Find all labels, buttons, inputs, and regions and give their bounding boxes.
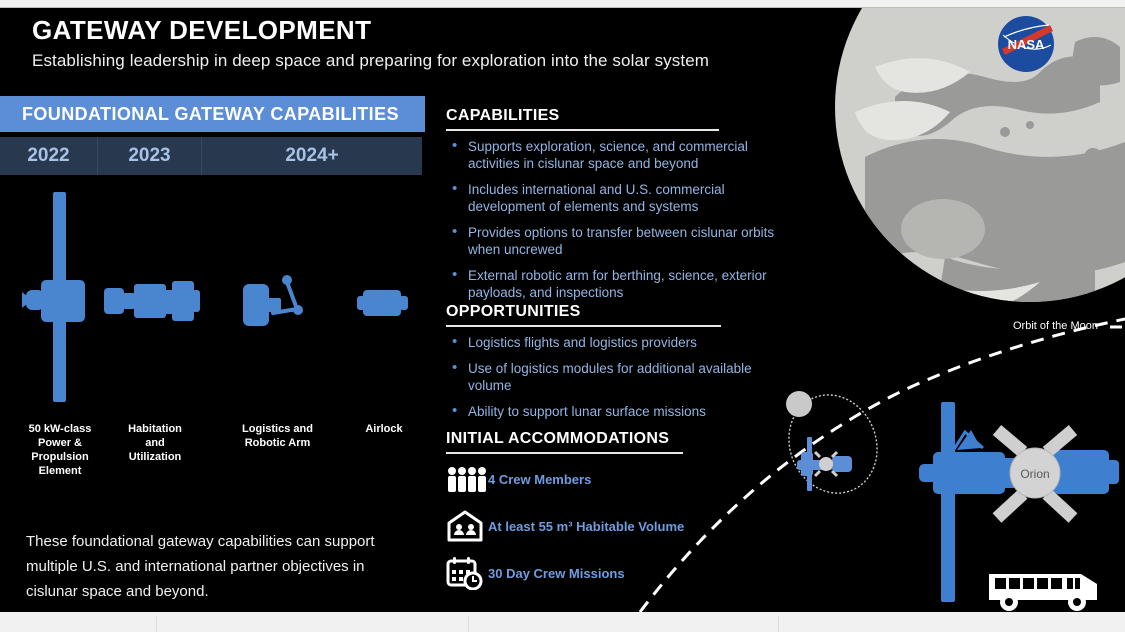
capabilities-section: CAPABILITIES Supports exploration, scien… [446,107,786,310]
habitat-volume-icon [446,508,488,544]
accommodations-divider [446,452,683,454]
timeline-year-2023: 2023 [97,137,202,175]
page-subtitle: Establishing leadership in deep space an… [32,51,709,71]
opportunities-divider [446,325,721,327]
capabilities-list: Supports exploration, science, and comme… [446,138,786,301]
accommodation-label-volume: At least 55 m³ Habitable Volume [488,518,688,535]
slide-body: NASA Orbit of the Moon [0,7,1125,612]
accommodation-row-duration: 30 Day Crew Missions [446,555,786,591]
ppe-module-icon [18,192,108,407]
habitation-module-icon [104,278,202,326]
capabilities-item: Provides options to transfer between cis… [446,224,786,258]
opportunities-item: Ability to support lunar surface mission… [446,403,786,420]
orbit-of-the-moon-label: Orbit of the Moon [1013,320,1098,332]
opportunities-item: Use of logistics modules for additional … [446,360,786,394]
opportunities-heading: OPPORTUNITIES [446,303,786,321]
capabilities-item: Supports exploration, science, and comme… [446,138,786,172]
accommodation-label-crew: 4 Crew Members [488,471,688,488]
logistics-robotic-arm-module-icon [243,272,311,328]
orbit-dash-tail [1110,320,1125,334]
accommodation-label-duration: 30 Day Crew Missions [488,565,688,582]
foundational-capabilities-bar: FOUNDATIONAL GATEWAY CAPABILITIES [0,96,425,132]
foundational-capabilities-label: FOUNDATIONAL GATEWAY CAPABILITIES [22,104,399,125]
airlock-module-label: Airlock [345,422,423,436]
accommodations-heading: INITIAL ACCOMMODATIONS [446,430,786,448]
page-edge-top [0,0,1125,8]
accommodation-row-crew: 4 Crew Members [446,461,786,497]
timeline-year-2024: 2024+ [202,137,422,175]
habitation-module-label: HabitationandUtilization [105,422,205,464]
timeline-year-bar: 2022 2023 2024+ [0,137,422,175]
footnote-text: These foundational gateway capabilities … [26,529,406,604]
ppe-module-label: 50 kW-classPower &PropulsionElement [5,422,115,478]
timeline-year-2022: 2022 [0,137,97,175]
moon-image: NASA [825,7,1125,317]
page-edge-bottom [0,612,1125,632]
nasa-logo-text: NASA [1008,37,1045,52]
opportunities-section: OPPORTUNITIES Logistics flights and logi… [446,303,786,429]
orion-gateway-diagram: Orion [905,402,1125,612]
slide-canvas: NASA Orbit of the Moon [0,0,1125,632]
opportunities-list: Logistics flights and logistics provider… [446,334,786,420]
module-diagram-row: 50 kW-classPower &PropulsionElement Habi… [0,192,430,452]
capabilities-item: Includes international and U.S. commerci… [446,181,786,215]
capabilities-divider [446,129,719,131]
accommodations-section: INITIAL ACCOMMODATIONS 4 Crew Members [446,430,786,602]
page-title: GATEWAY DEVELOPMENT [32,15,371,46]
logistics-module-label: Logistics andRobotic Arm [225,422,330,450]
opportunities-item: Logistics flights and logistics provider… [446,334,786,351]
calendar-clock-icon [446,555,488,591]
orion-label: Orion [1020,467,1049,481]
capabilities-heading: CAPABILITIES [446,107,786,125]
halo-orbit-inset [775,382,890,502]
nasa-logo-icon: NASA [997,15,1055,73]
four-crew-icon [446,461,488,497]
airlock-module-icon [357,287,409,321]
capabilities-item: External robotic arm for berthing, scien… [446,267,786,301]
accommodation-row-volume: At least 55 m³ Habitable Volume [446,508,786,544]
